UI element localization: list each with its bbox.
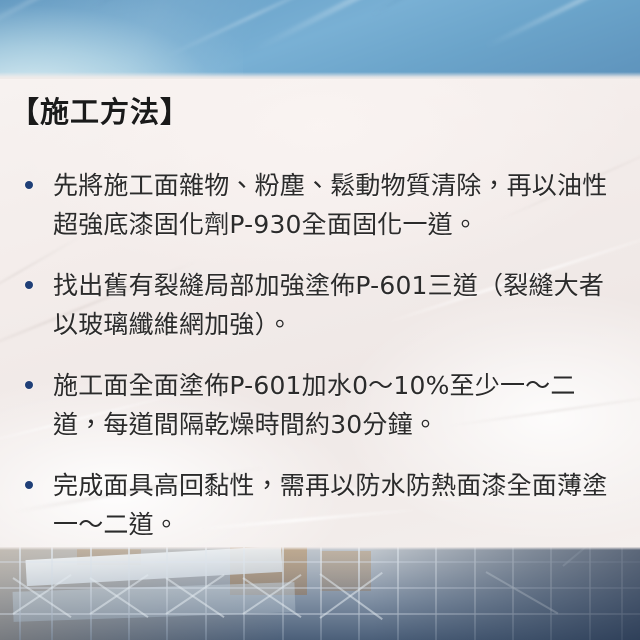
section-title: 【施工方法】 — [10, 96, 190, 129]
photo-shadow-overlay — [371, 547, 640, 640]
photo-scaffold-pole — [205, 547, 207, 640]
photo-scaffold-pole — [51, 547, 53, 640]
photo-scaffold-pole — [282, 547, 284, 640]
photo-scaffold-pole — [320, 547, 322, 640]
list-item-text: 先將施工面雜物、粉塵、鬆動物質清除，再以油性超強底漆固化劑P-930全面固化一道… — [53, 171, 607, 239]
method-steps-list: 先將施工面雜物、粉塵、鬆動物質清除，再以油性超強底漆固化劑P-930全面固化一道… — [0, 167, 640, 547]
top-banner-sky-image — [0, 0, 640, 79]
photo-scaffold-pole — [243, 547, 245, 640]
banner-bottom-fade — [0, 72, 640, 79]
list-item: 找出舊有裂縫局部加強塗佈P-601三道（裂縫大者以玻璃纖維網加強）。 — [0, 267, 640, 344]
bullet-dot-icon — [25, 281, 33, 289]
slide-root: 【施工方法】 先將施工面雜物、粉塵、鬆動物質清除，再以油性超強底漆固化劑P-93… — [0, 0, 640, 640]
list-item: 施工面全面塗佈P-601加水0～10%至少一～二道，每道間隔乾燥時間約30分鐘。 — [0, 367, 640, 444]
photo-scaffold-pole — [128, 547, 130, 640]
list-item-text: 施工面全面塗佈P-601加水0～10%至少一～二道，每道間隔乾燥時間約30分鐘。 — [53, 371, 576, 439]
bottom-scaffolding-image — [0, 547, 640, 640]
list-item: 先將施工面雜物、粉塵、鬆動物質清除，再以油性超強底漆固化劑P-930全面固化一道… — [0, 167, 640, 244]
bullet-dot-icon — [25, 181, 33, 189]
list-item: 完成面具高回黏性，需再以防水防熱面漆全面薄塗一～二道。 — [0, 467, 640, 544]
bullet-dot-icon — [25, 481, 33, 489]
photo-scaffold-pole — [358, 547, 360, 640]
sky-glow — [0, 0, 243, 79]
list-item-text: 完成面具高回黏性，需再以防水防熱面漆全面薄塗一～二道。 — [53, 471, 607, 539]
photo-scaffold-pole — [166, 547, 168, 640]
photo-top-edge — [0, 547, 640, 550]
content-panel: 【施工方法】 先將施工面雜物、粉塵、鬆動物質清除，再以油性超強底漆固化劑P-93… — [0, 79, 640, 547]
photo-scaffold-pole — [90, 547, 92, 640]
list-item-text: 找出舊有裂縫局部加強塗佈P-601三道（裂縫大者以玻璃纖維網加強）。 — [53, 271, 604, 339]
photo-scaffold-pole — [19, 547, 21, 640]
bullet-dot-icon — [25, 381, 33, 389]
